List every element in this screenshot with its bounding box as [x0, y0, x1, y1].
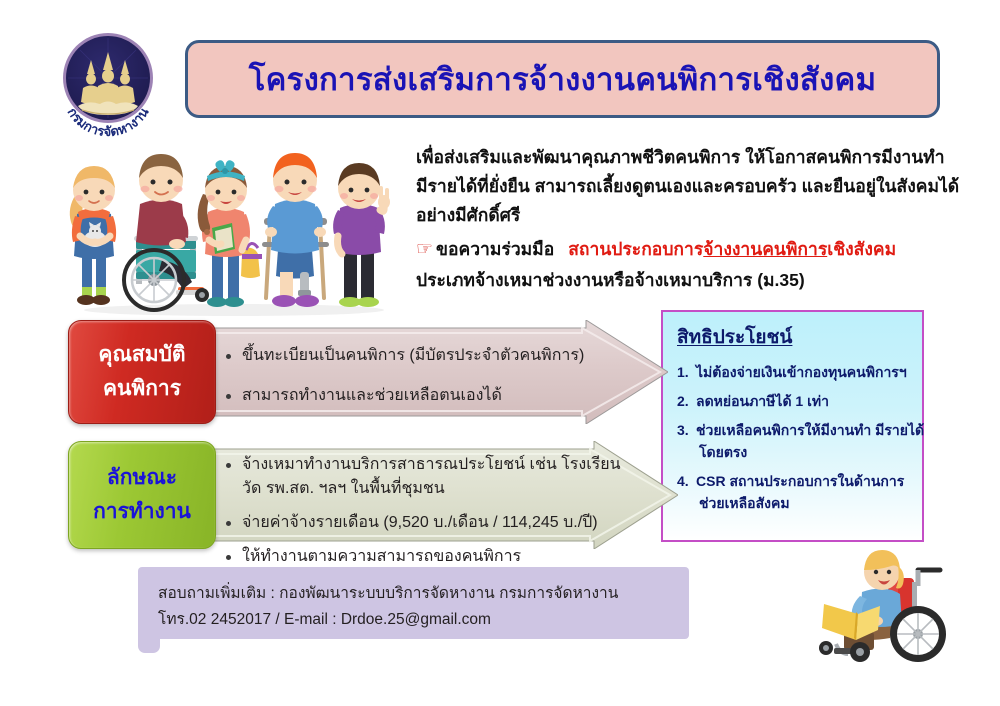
page-title: โครงการส่งเสริมการจ้างงานคนพิการเชิงสังค… — [249, 64, 877, 95]
benefit-4-continuation: ช่วยเหลือสังคม — [696, 492, 910, 514]
qualification-bullet-2-text: สามารถทำงานและช่วยเหลือตนเองได้ — [242, 387, 502, 404]
benefit-item-2: 2. ลดหย่อนภาษีได้ 1 เท่า — [677, 390, 910, 412]
department-logo: กรมการจัดหางาน — [52, 26, 164, 144]
title-banner: โครงการส่งเสริมการจ้างงานคนพิการเชิงสังค… — [185, 40, 940, 118]
worktype-badge-line-2: การทำงาน — [93, 495, 191, 529]
benefit-2-text: ลดหย่อนภาษีได้ 1 เท่า — [696, 393, 829, 409]
cooperation-request: ☞ขอความร่วมมือสถานประกอบการจ้างงานคนพิกา… — [416, 234, 961, 295]
benefit-1-number: 1. — [677, 361, 689, 383]
benefit-item-4: 4. CSR สถานประกอบการในด้านการ ช่วยเหลือส… — [677, 470, 910, 514]
qualification-bullet-2: สามารถทำงานและช่วยเหลือตนเองได้ — [220, 384, 584, 408]
pointing-hand-icon: ☞ — [416, 239, 433, 260]
cooperation-label: ขอความร่วมมือ — [436, 239, 554, 259]
intro-line-3: อย่างมีศักดิ์ศรี — [416, 201, 946, 230]
contact-line-1: สอบถามเพิ่มเติม : กองพัฒนาระบบบริการจัดห… — [158, 583, 618, 605]
worktype-bullet-3-text: ให้ทำงานตามความสามารถของคนพิการ — [242, 548, 521, 565]
benefit-item-3: 3. ช่วยเหลือคนพิการให้มีงานทำ มีรายได้ โ… — [677, 419, 910, 463]
worktype-bullet-1-subtext: วัด รพ.สต. ฯลฯ ในพื้นที่ชุมชน — [242, 477, 621, 501]
coop-red-suffix: เชิงสังคม — [827, 239, 896, 259]
worktype-bullet-3: ให้ทำงานตามความสามารถของคนพิการ — [220, 545, 621, 569]
benefit-3-text: ช่วยเหลือคนพิการให้มีงานทำ มีรายได้ — [696, 422, 924, 438]
qualification-badge-line-2: คนพิการ — [103, 372, 181, 406]
benefit-item-1: 1. ไม่ต้องจ่ายเงินเข้ากองทุนคนพิการฯ — [677, 361, 910, 383]
footer-ribbon-tab — [138, 639, 160, 653]
person-with-crutches — [262, 153, 329, 307]
person-girl-with-cat — [70, 166, 116, 305]
worktype-badge-line-1: ลักษณะ — [107, 461, 177, 495]
benefit-1-text: ไม่ต้องจ่ายเงินเข้ากองทุนคนพิการฯ — [696, 364, 907, 380]
poster-page: กรมการจัดหางาน โครงการส่งเสริมการจ้างงาน… — [0, 0, 1000, 706]
worktype-bullet-2: จ่ายค่าจ้างรายเดือน (9,520 บ./เดือน / 11… — [220, 511, 621, 535]
benefit-4-text: CSR สถานประกอบการในด้านการ — [696, 473, 904, 489]
qualification-bullet-1-text: ขึ้นทะเบียนเป็นคนพิการ (มีบัตรประจำตัวคน… — [242, 347, 584, 364]
benefit-3-continuation: โดยตรง — [696, 441, 910, 463]
benefit-2-number: 2. — [677, 390, 689, 412]
benefits-title: สิทธิประโยชน์ — [677, 322, 910, 352]
worktype-bullet-1-text: จ้างเหมาทำงานบริการสาธารณประโยชน์ เช่น โ… — [242, 456, 621, 473]
person-in-wheelchair — [124, 154, 209, 310]
worktype-bullet-1: จ้างเหมาทำงานบริการสาธารณประโยชน์ เช่น โ… — [220, 453, 621, 501]
cooperation-highlight: สถานประกอบการจ้างงานคนพิการเชิงสังคม — [568, 239, 896, 259]
benefit-4-number: 4. — [677, 470, 689, 492]
worktype-bullets: จ้างเหมาทำงานบริการสาธารณประโยชน์ เช่น โ… — [220, 453, 621, 579]
worktype-bullet-2-text: จ่ายค่าจ้างรายเดือน (9,520 บ./เดือน / 11… — [242, 514, 598, 531]
benefit-3-number: 3. — [677, 419, 689, 441]
qualification-badge-line-1: คุณสมบัติ — [98, 338, 185, 372]
qualification-badge: คุณสมบัติ คนพิการ — [68, 320, 216, 424]
person-boy-purple-shirt — [333, 163, 390, 307]
wheelchair-reader-illustration — [800, 548, 965, 666]
qualification-bullets: ขึ้นทะเบียนเป็นคนพิการ (มีบัตรประจำตัวคน… — [220, 344, 584, 424]
qualification-bullet-1: ขึ้นทะเบียนเป็นคนพิการ (มีบัตรประจำตัวคน… — [220, 344, 584, 368]
cooperation-subtitle: ประเภทจ้างเหมาช่วงงานหรือจ้างเหมาบริการ … — [416, 265, 961, 295]
intro-paragraph: เพื่อส่งเสริมและพัฒนาคุณภาพชีวิตคนพิการ … — [416, 143, 946, 230]
qualification-row: คุณสมบัติ คนพิการ ขึ้นทะเบียนเป็นคนพิการ… — [68, 320, 668, 424]
contact-line-2: โทร.02 2452017 / E-mail : Drdoe.25@gmail… — [158, 609, 491, 631]
worktype-row: ลักษณะ การทำงาน จ้างเหมาทำงานบริการสาธาร… — [68, 441, 678, 549]
benefits-panel: สิทธิประโยชน์ 1. ไม่ต้องจ่ายเงินเข้ากองท… — [661, 310, 924, 542]
coop-red-underlined: จ้างงานคนพิการ — [703, 239, 827, 259]
intro-line-2: มีรายได้ที่ยั่งยืน สามารถเลี้ยงดูตนเองแล… — [416, 172, 946, 201]
person-girl-with-book — [198, 160, 262, 307]
people-with-disabilities-illustration — [62, 132, 407, 318]
coop-red-prefix: สถานประกอบการ — [568, 239, 703, 259]
intro-line-1: เพื่อส่งเสริมและพัฒนาคุณภาพชีวิตคนพิการ … — [416, 143, 946, 172]
worktype-badge: ลักษณะ การทำงาน — [68, 441, 216, 549]
